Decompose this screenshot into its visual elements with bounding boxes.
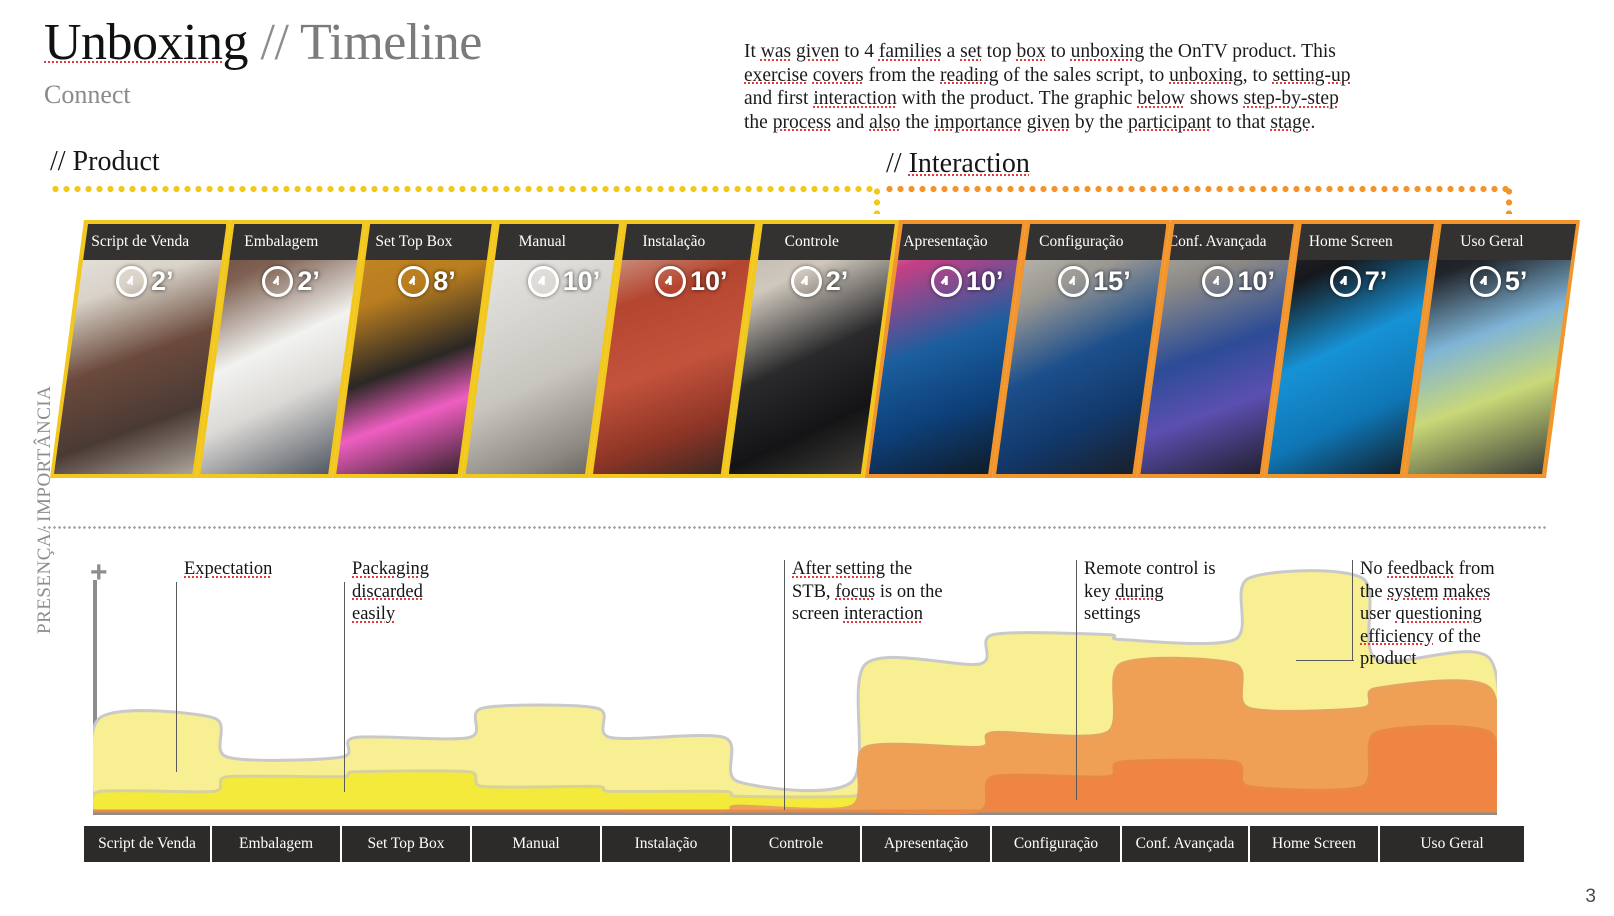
- stage-duration: 10’: [528, 266, 601, 297]
- x-axis-label-uso-geral: Uso Geral: [1380, 826, 1524, 862]
- stage-duration: 7’: [1330, 266, 1388, 297]
- page-number: 3: [1585, 886, 1596, 908]
- annotation-line: Expectation: [184, 558, 272, 581]
- annotation-leader-line: [784, 560, 785, 810]
- stage-duration: 2’: [262, 266, 320, 297]
- x-axis-label-embalagem: Embalagem: [212, 826, 342, 862]
- annotation-leader-line-horizontal: [1296, 660, 1354, 661]
- stage-duration-label: 15’: [1093, 266, 1131, 297]
- annotation-line: product: [1360, 648, 1495, 671]
- stage-caption-label: Conf. Avançada: [1168, 233, 1267, 251]
- intro-line: It was given to 4 families a set top box…: [744, 40, 1506, 64]
- page-title: Unboxing // Timeline: [44, 16, 482, 71]
- x-axis-label-conf-avan-ada: Conf. Avançada: [1122, 826, 1250, 862]
- clock-icon: [528, 266, 559, 297]
- clock-icon: [931, 266, 962, 297]
- annotation-line: No feedback from: [1360, 558, 1495, 581]
- clock-icon: [1058, 266, 1089, 297]
- x-axis-category-bar: Script de VendaEmbalagemSet Top BoxManua…: [84, 826, 1524, 862]
- stage-duration: 8’: [398, 266, 456, 297]
- x-axis-label-home-screen: Home Screen: [1250, 826, 1380, 862]
- stage-caption-label: Configuração: [1039, 233, 1123, 251]
- stage-duration: 5’: [1470, 266, 1528, 297]
- stage-duration-label: 5’: [1505, 266, 1528, 297]
- stage-caption-label: Apresentação: [903, 233, 987, 251]
- annotation-leader-line: [1352, 560, 1353, 660]
- stage-duration-label: 8’: [433, 266, 456, 297]
- stage-duration-label: 10’: [690, 266, 728, 297]
- annotation-leader-line: [1076, 560, 1077, 800]
- annotation-line: screen interaction: [792, 603, 943, 626]
- stage-duration: 2’: [116, 266, 174, 297]
- annotation-line: efficiency of the: [1360, 626, 1495, 649]
- clock-icon: [262, 266, 293, 297]
- chart-annotation-packaging: Packagingdiscardedeasily: [352, 558, 429, 626]
- annotation-leader-line: [344, 582, 345, 792]
- stage-duration-label: 10’: [563, 266, 601, 297]
- stage-caption-label: Instalação: [642, 233, 705, 251]
- annotation-line: Packaging: [352, 558, 429, 581]
- stage-duration-label: 7’: [1365, 266, 1388, 297]
- stage-duration-label: 2’: [297, 266, 320, 297]
- intro-paragraph: It was given to 4 families a set top box…: [744, 40, 1506, 134]
- page-title-separator: //: [248, 14, 300, 71]
- clock-icon: [1470, 266, 1501, 297]
- stage-duration: 10’: [655, 266, 728, 297]
- clock-icon: [116, 266, 147, 297]
- photo-script-de-venda: [54, 224, 226, 474]
- product-dotted-rule: [50, 186, 878, 192]
- section-label-product: // Product: [50, 146, 160, 178]
- stage-duration: 10’: [931, 266, 1004, 297]
- intro-line: exercise covers from the reading of the …: [744, 64, 1506, 88]
- photo-home-screen: [1268, 224, 1434, 474]
- annotation-line: discarded: [352, 581, 429, 604]
- stage-caption: Script de Venda: [54, 224, 226, 260]
- clock-icon: [1330, 266, 1361, 297]
- intro-line: the process and also the importance give…: [744, 111, 1506, 135]
- x-axis-label-instala-o: Instalação: [602, 826, 732, 862]
- clock-icon: [655, 266, 686, 297]
- page-subtitle: Connect: [44, 80, 131, 110]
- stage-duration-label: 10’: [966, 266, 1004, 297]
- product-dotted-rule-drop: [874, 186, 880, 214]
- stage-duration-label: 10’: [1237, 266, 1275, 297]
- stage-caption-label: Home Screen: [1309, 233, 1393, 251]
- stage-caption-label: Set Top Box: [375, 233, 452, 251]
- annotation-line: the system makes: [1360, 581, 1495, 604]
- stage-caption-label: Uso Geral: [1460, 233, 1523, 251]
- interaction-dotted-rule-drop: [1506, 186, 1512, 214]
- stage-caption-label: Manual: [519, 233, 566, 251]
- stage-duration: 15’: [1058, 266, 1131, 297]
- importance-area-chart: PRESENÇA/ IMPORTÂNCIA + ExpectationPacka…: [42, 548, 1522, 868]
- chart-annotation-remote-control: Remote control iskey duringsettings: [1084, 558, 1216, 626]
- clock-icon: [1202, 266, 1233, 297]
- annotation-line: user questioning: [1360, 603, 1495, 626]
- annotation-line: settings: [1084, 603, 1216, 626]
- x-axis-label-manual: Manual: [472, 826, 602, 862]
- annotation-line: STB, focus is on the: [792, 581, 943, 604]
- x-axis-label-script-de-venda: Script de Venda: [84, 826, 212, 862]
- stage-caption-label: Embalagem: [244, 233, 318, 251]
- x-axis-label-set-top-box: Set Top Box: [342, 826, 472, 862]
- stage-caption-label: Controle: [785, 233, 839, 251]
- annotation-leader-line: [176, 582, 177, 772]
- stage-duration: 10’: [1202, 266, 1275, 297]
- x-axis-label-apresenta-o: Apresentação: [862, 826, 992, 862]
- x-axis-label-controle: Controle: [732, 826, 862, 862]
- x-axis-label-configura-o: Configuração: [992, 826, 1122, 862]
- chart-annotation-no-feedback: No feedback fromthe system makesuser que…: [1360, 558, 1495, 671]
- stage-duration-label: 2’: [826, 266, 849, 297]
- photo-controle: [729, 224, 895, 474]
- page-title-main: Unboxing: [44, 14, 248, 71]
- annotation-line: key during: [1084, 581, 1216, 604]
- stage-duration-label: 2’: [151, 266, 174, 297]
- stage-caption-label: Script de Venda: [91, 233, 189, 251]
- clock-icon: [791, 266, 822, 297]
- timeline-filmstrip: Script de Venda2’Embalagem2’Set Top Box8…: [50, 220, 1512, 478]
- annotation-line: easily: [352, 603, 429, 626]
- intro-line: and first interaction with the product. …: [744, 87, 1506, 111]
- photo-uso-geral: [1408, 224, 1576, 474]
- photo-configuracao: [996, 224, 1166, 474]
- y-axis-label: PRESENÇA/ IMPORTÂNCIA: [34, 404, 56, 634]
- page-title-sub: Timeline: [300, 14, 482, 71]
- clock-icon: [398, 266, 429, 297]
- annotation-line: After setting the: [792, 558, 943, 581]
- annotation-line: Remote control is: [1084, 558, 1216, 581]
- section-divider: [42, 526, 1546, 529]
- chart-annotation-expectation: Expectation: [184, 558, 272, 581]
- stage-duration: 2’: [791, 266, 849, 297]
- interaction-dotted-rule: [884, 186, 1512, 192]
- chart-annotation-after-setting: After setting theSTB, focus is on thescr…: [792, 558, 943, 626]
- section-label-interaction: // Interaction: [886, 148, 1030, 180]
